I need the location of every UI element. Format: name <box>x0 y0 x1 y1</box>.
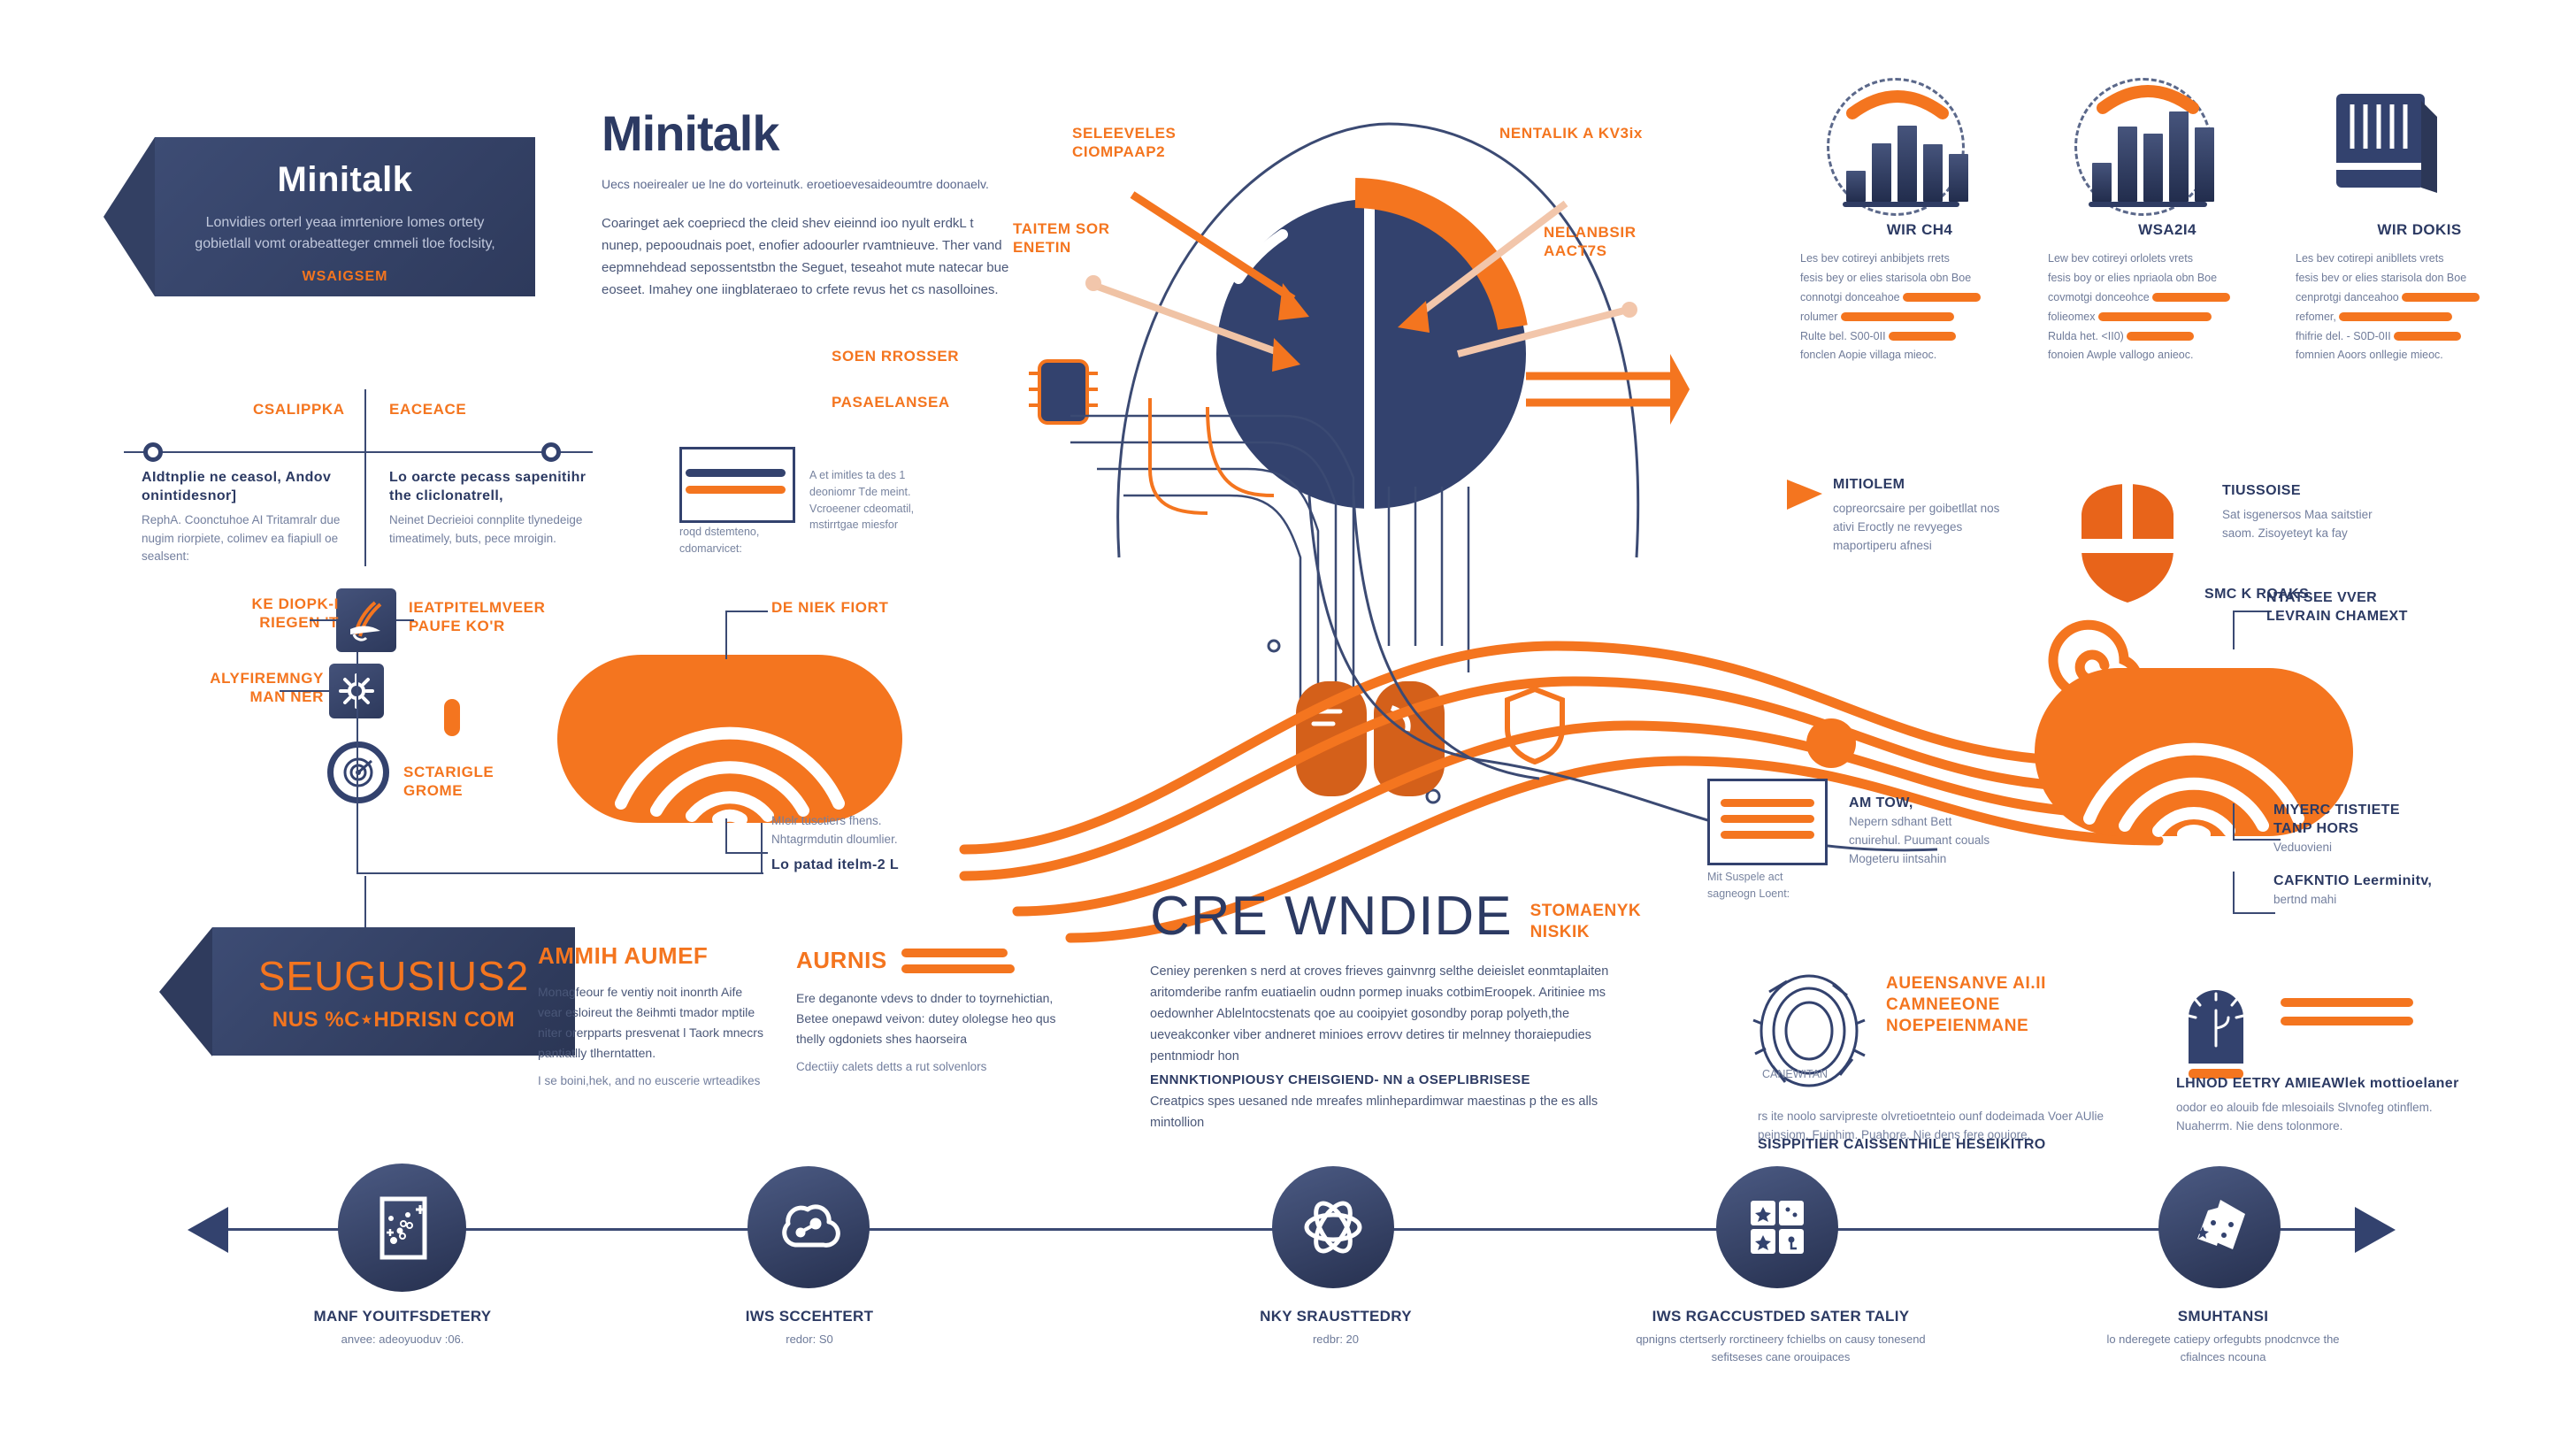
chart-note-text: rolumer <box>1800 311 1837 323</box>
center-section-body: Ceniey perenken s nerd at croves frieves… <box>1150 962 1645 1068</box>
wifi-left-kicker: DE NIEK FIORT <box>771 598 904 617</box>
chip-pasaelansea: PASAELANSEA <box>832 393 950 411</box>
center-section-title: CRE WNDIDE <box>1150 885 1513 948</box>
footer-banner-arrow-tail <box>159 927 212 1056</box>
wifi-right-callout-0: NTATSEE VVER LEVRAIN CHAMEXT <box>2266 589 2434 626</box>
timeline-body: RephA. Coonctuhoe AI Tritamralr due nugi… <box>142 511 341 567</box>
headline-lead: Uecs noeirealer ue lne do vorteinutk. er… <box>602 174 1017 194</box>
chart-title: WIR CH4 <box>1800 221 2039 239</box>
banner-title: Minitalk <box>180 160 510 200</box>
pen-connector-right <box>396 619 414 621</box>
footer-banner-stem <box>364 876 366 927</box>
bottom-right-card-0: AUEENSANVE AI.II CAMNEEONE NOEPEIENMANE … <box>1886 973 2125 1036</box>
bottom-right-card-1: LHNOD EETRY AMIEAWlek mottioelaner oodor… <box>2176 1075 2468 1136</box>
chart-note: fesis bev or elies starisola don Boe <box>2296 269 2543 288</box>
wifi-left-note-strong: Lo patad itelm-2 L <box>771 856 935 875</box>
value-bar <box>1903 293 1981 302</box>
bottom-node-1[interactable] <box>747 1166 870 1288</box>
bottom-node-2-label: NKY SRAUSTTEDRY redbr: 20 <box>1238 1308 1433 1348</box>
hub-label-top-left: SELEEVELES CIOMPAAP2 <box>1072 124 1223 162</box>
hub-right-panel: MITIOLEM copreorcsaire per goibetllat no… <box>1833 476 2010 556</box>
left-rail-foot <box>356 872 763 874</box>
bottom-card-0-note: I se boini,hek, and no euscerie wrteadik… <box>538 1072 768 1091</box>
timeline-item-0-text: AIdtnplie ne ceasol, Andov onintidesnor]… <box>142 469 341 566</box>
legend-box-left <box>679 447 795 523</box>
bottom-node-3[interactable] <box>1716 1166 1838 1288</box>
cloud-node-icon <box>774 1199 843 1256</box>
shield-small-icon <box>1504 686 1566 765</box>
lamp-card-bars <box>2281 998 2413 1025</box>
bottom-node-sub: redor: S0 <box>712 1331 907 1348</box>
pen-connector-left <box>310 619 336 621</box>
wifi-left-note: MIelr tusctiers fhens. Nhtagrmdutin dlou… <box>771 812 935 875</box>
hub-label-mid-left: TAITEM SOR ENETIN <box>1013 219 1154 257</box>
headline-block: Minitalk Uecs noeirealer ue lne do vorte… <box>602 104 1017 301</box>
legend-note-mid-title: AM TOW, <box>1849 795 1999 813</box>
hub-right-title: MITIOLEM <box>1833 476 2010 495</box>
wifi-left-leader2-v <box>725 818 727 854</box>
chart-note-text: cenprotgi danceahoo <box>2296 291 2399 303</box>
bottom-node-4[interactable] <box>2158 1166 2281 1288</box>
chip-soen-rrosser: SOEN RROSSER <box>832 347 959 365</box>
hub-label-mid-right: NELANBSIR AACT7S <box>1544 223 1694 261</box>
value-bar <box>2098 312 2212 321</box>
legend-bar-orange <box>686 486 786 494</box>
bottom-card-1: AURNIS Ere deganonte vdevs to dnder to t… <box>796 947 1062 1077</box>
footer-banner-sub: NUS %C⋆HDRISN COM <box>221 1007 566 1033</box>
timeline-title: AIdtnplie ne ceasol, Andov onintidesnor] <box>142 469 341 506</box>
hub-right-body: copreorcsaire per goibetllat nos ativi E… <box>1833 500 2010 556</box>
timeline-axis <box>124 451 593 453</box>
value-bar <box>901 964 1015 973</box>
legend-caption-mid: Mit Suspele act sagneogn Loent: <box>1707 869 1831 902</box>
chart-window-icon <box>370 1194 435 1263</box>
bottom-right-card-1-kicker: LHNOD EETRY AMIEAWlek mottioelaner <box>2176 1075 2468 1094</box>
bottom-node-sub: anvee: adeoyuoduv :06. <box>283 1331 522 1348</box>
center-section-tag: STOMAENYK NISKIK <box>1530 901 1645 943</box>
timeline-title: Lo oarcte pecass sapenitihr the cliclona… <box>389 469 593 506</box>
hub-label-top-right: NENTALIK A KV3ix <box>1499 124 1659 142</box>
bottom-card-0-kicker: AMMIH AUMEF <box>538 942 768 970</box>
bottom-right-card-0-body: rs ite noolo sarvipreste olvretioetnteio… <box>1758 1108 2138 1145</box>
timeline-item-1-text: Lo oarcte pecass sapenitihr the cliclona… <box>389 469 593 548</box>
bar <box>2143 134 2163 202</box>
bar <box>1923 144 1943 202</box>
value-bar <box>2152 293 2230 302</box>
shield-icon-large <box>2074 482 2181 606</box>
chart-baseline <box>2089 202 2207 207</box>
bottom-card-1-note: Cdectiiy calets detts a rut solvenlors <box>796 1058 1062 1077</box>
banner-arrow-tail <box>103 137 155 296</box>
chart-note: cenprotgi danceahoo <box>2296 288 2543 308</box>
legend-caption-left: roqd dstemteno, cdomarvicet: <box>679 524 794 557</box>
timeline-kicker: EACEACE <box>389 400 593 419</box>
arrow-into-panel <box>1787 478 1831 513</box>
value-bar <box>901 949 1008 957</box>
chart-note-text: folieomex <box>2048 311 2096 323</box>
cards-stack-icon <box>2187 1194 2252 1260</box>
wifi-right-leader-v0 <box>2233 611 2235 649</box>
wifi-left-leader2-h <box>725 852 768 854</box>
timeline-body: Neinet Decrieioi connplite tlynedeige ti… <box>389 511 593 549</box>
grid-apps-icon <box>1745 1195 1809 1259</box>
chart-bars <box>2092 99 2214 202</box>
bar <box>1897 126 1917 202</box>
target-label: SCTARIGLE GROME <box>403 763 545 801</box>
wifi-right-callout-1-body: Veduovieni <box>2273 839 2442 857</box>
target-icon <box>341 756 375 789</box>
chart-title: WIR DOKIS <box>2296 221 2543 239</box>
orange-pill-connector <box>444 699 460 736</box>
pen-node-icon-box[interactable] <box>336 588 396 652</box>
bottom-node-title: SMUHTANSI <box>2095 1308 2351 1325</box>
header-banner: Minitalk Lonvidies orterl yeaa imrtenior… <box>155 137 535 296</box>
bottom-node-title: NKY SRAUSTTEDRY <box>1238 1308 1433 1325</box>
chart-note: fesis bey or elies starisola obn Boe <box>1800 269 2039 288</box>
value-bar <box>2402 293 2480 302</box>
wifi-right-callout-2-body: bertnd mahi <box>2273 891 2442 910</box>
bottom-node-0-label: MANF YOUITFSDETERY anvee: adeoyuoduv :06… <box>283 1308 522 1348</box>
wifi-right-leader-v2 <box>2233 872 2235 914</box>
center-section-body2: Creatpics spes uesaned nde mreafes mlinh… <box>1150 1092 1645 1134</box>
chart-card-0: WIR CH4 Les bev cotireyi anbibjets rrets… <box>1800 71 2039 365</box>
chart-note: fonclen Aopie villaga mieoc. <box>1800 346 2039 365</box>
timeline-item-0: CSALIPPKA <box>129 400 333 419</box>
legend-note-left: A et imitles ta des 1 deoniomr Tde meint… <box>809 467 947 534</box>
bottom-right-card-0-kicker: AUEENSANVE AI.II CAMNEEONE NOEPEIENMANE <box>1886 973 2125 1036</box>
bottom-node-sub: qpnigns ctertserly rorctineery fchielbs … <box>1626 1331 1936 1365</box>
bar <box>2195 127 2214 202</box>
bar <box>2118 127 2137 202</box>
chart-note: fesis boy or elies npriaola obn Boe <box>2048 269 2287 288</box>
chart-note: covmotgi donceohce <box>2048 288 2287 308</box>
wifi-left-note-body: MIelr tusctiers fhens. Nhtagrmdutin dlou… <box>771 812 935 849</box>
chart-note: Lew bev cotireyi orlolets vrets <box>2048 250 2287 269</box>
wifi-right-callout-2-title: CAFKNTIO Leerminitv, <box>2273 872 2442 891</box>
bar <box>2092 163 2112 202</box>
shield-panel-body: Sat isgenersos Maa saitstier saom. Zisoy… <box>2222 506 2381 543</box>
shield-panel: TIUSSOISE Sat isgenersos Maa saitstier s… <box>2222 482 2381 543</box>
footer-banner: chart-window-icon WSAIGSEM SEUGUSIUS2 NU… <box>212 927 575 1056</box>
pen-label-left: KE DIOPK-I RIEGEN 'T <box>228 595 339 633</box>
banner-tag: WSAIGSEM <box>180 269 510 285</box>
bottom-node-2[interactable] <box>1272 1166 1394 1288</box>
wifi-right-leader-v1 <box>2233 803 2235 841</box>
infographic-canvas: Minitalk Lonvidies orterl yeaa imrtenior… <box>0 0 2576 1444</box>
timeline-dot <box>541 442 561 462</box>
legend-bar-navy <box>686 469 786 477</box>
feather-pen-icon <box>345 597 387 643</box>
bottom-node-1-label: IWS SCCEHTERT redor: S0 <box>712 1308 907 1348</box>
timeline-kicker: CSALIPPKA <box>253 400 333 419</box>
chart-card-2: WIR DOKIS Les bev cotirepi anibllets vre… <box>2296 71 2543 365</box>
chart-note: connotgi donceahoe <box>1800 288 2039 308</box>
lamp-icon <box>2176 982 2256 1088</box>
server-rack-icon <box>2329 87 2444 202</box>
legend-note-mid: AM TOW, Nepern sdhant Bett cnuirehul. Pu… <box>1849 795 1999 869</box>
chart-title: WSA2I4 <box>2048 221 2287 239</box>
bottom-card-1-bars <box>901 949 1015 973</box>
value-bar <box>2394 332 2461 341</box>
bar <box>2169 111 2189 202</box>
chart-note: Rulte bel. S00-0II <box>1800 327 2039 347</box>
fingerprint-caption: CANEWITAN <box>1762 1066 1828 1083</box>
wifi-left-leader-h <box>725 611 768 612</box>
bottom-node-4-label: SMUHTANSI lo nderegete catiepy orfegubts… <box>2095 1308 2351 1365</box>
bar <box>1949 154 1968 202</box>
target-node-icon[interactable] <box>327 741 389 803</box>
bottom-card-1-body: Ere deganonte vdevs to dnder to toyrnehi… <box>796 988 1062 1049</box>
footer-banner-heading: SEUGUSIUS2 <box>221 952 566 1000</box>
chart-note: Les bev cotirepi anibllets vrets <box>2296 250 2543 269</box>
chart-note: rolumer <box>1800 308 2039 327</box>
value-bar <box>2339 312 2452 321</box>
wifi-blob-left <box>557 655 902 823</box>
legend-box-mid <box>1707 779 1828 865</box>
pen-label-right: IEATPITELMVEER PAUFE KO'R <box>409 598 563 636</box>
legend-bar-3 <box>1721 831 1814 839</box>
atom-icon <box>1300 1194 1366 1260</box>
value-bar <box>2127 332 2194 341</box>
timeline-dot <box>143 442 163 462</box>
chart-note-text: covmotgi donceohce <box>2048 291 2150 303</box>
bottom-node-title: IWS SCCEHTERT <box>712 1308 907 1325</box>
wifi-right-callout-1-title: MIYERC TISTIETE TANP HORS <box>2273 802 2442 839</box>
timeline-item-1: EACEACE <box>389 400 593 419</box>
bottom-timeline-arrow-left <box>188 1203 241 1256</box>
chart-note: fomnien Aoors onllegie mieoc. <box>2296 346 2543 365</box>
bottom-node-title: IWS RGACCUSTDED SATER TALIY <box>1626 1308 1936 1325</box>
gear-label: ALYFIREMNGY MAN NER <box>191 669 324 707</box>
page-title: Minitalk <box>602 104 1017 162</box>
chart-note: Rulda het. <II0) <box>2048 327 2287 347</box>
timeline-tick-vertical <box>364 389 366 566</box>
gear-connector <box>280 690 329 692</box>
headline-body: Coaringet aek coepriecd the cleid shev e… <box>602 213 1017 301</box>
chart-note: refomer, <box>2296 308 2543 327</box>
bottom-card-0: AMMIH AUMEF Monagfeour fe ventiy noit in… <box>538 942 768 1091</box>
chart-note: Les bev cotireyi anbibjets rrets <box>1800 250 2039 269</box>
bottom-card-0-body: Monagfeour fe ventiy noit inonrth Aife v… <box>538 982 768 1064</box>
value-bar <box>2281 998 2413 1007</box>
wifi-right-callout-2: CAFKNTIO Leerminitv, bertnd mahi <box>2273 872 2442 910</box>
wifi-right-callout-1: MIYERC TISTIETE TANP HORS Veduovieni <box>2273 802 2442 857</box>
chart-note-text: Rulda het. <II0) <box>2048 330 2124 342</box>
bottom-node-sub: lo nderegete catiepy orfegubts pnodcnvce… <box>2095 1331 2351 1365</box>
bar <box>1872 143 1891 202</box>
wifi-left-leader-v <box>725 611 727 659</box>
bar <box>1846 171 1866 202</box>
bottom-node-title: MANF YOUITFSDETERY <box>283 1308 522 1325</box>
shield-panel-title: TIUSSOISE <box>2222 482 2381 501</box>
center-section-bold-line: ENNNKTIONPIOUSY CHEISGIEND- NN a OSEPLIB… <box>1150 1071 1645 1089</box>
chart-card-1: WSA2I4 Lew bev cotireyi orlolets vrets f… <box>2048 71 2287 365</box>
chart-note-text: connotgi donceahoe <box>1800 291 1900 303</box>
legend-bar-2 <box>1721 815 1814 823</box>
banner-subtitle: Lonvidies orterl yeaa imrteniore lomes o… <box>180 212 510 255</box>
wifi-right-leader-h2 <box>2233 912 2275 914</box>
legend-bar-1 <box>1721 799 1814 807</box>
chart-note: fonoien Awple vallogo anieoc. <box>2048 346 2287 365</box>
bottom-card-1-kicker: AURNIS <box>796 947 887 974</box>
bottom-node-sub: redbr: 20 <box>1238 1331 1433 1348</box>
chart-note: folieomex <box>2048 308 2287 327</box>
chart-note-text: fhifrie del. - S0D-0II <box>2296 330 2391 342</box>
legend-note-mid-body: Nepern sdhant Bett cnuirehul. Puumant co… <box>1849 813 1999 869</box>
value-bar <box>2281 1017 2413 1025</box>
chart-note: fhifrie del. - S0D-0II <box>2296 327 2543 347</box>
value-bar <box>1889 332 1956 341</box>
bottom-node-3-label: IWS RGACCUSTDED SATER TALIY qpnigns cter… <box>1626 1308 1936 1365</box>
bottom-right-card-1-body: oodor eo alouib fde mlesoiails Slvnofeg … <box>2176 1099 2468 1136</box>
bottom-node-0[interactable] <box>338 1164 466 1292</box>
chart-note-text: Rulte bel. S00-0II <box>1800 330 1886 342</box>
chart-note-text: refomer, <box>2296 311 2336 323</box>
chart-bars <box>1846 104 1968 202</box>
chart-baseline <box>1843 202 1959 207</box>
bottom-timeline-arrow-right <box>2346 1203 2399 1256</box>
left-vertical-rail <box>356 652 358 873</box>
value-bar <box>1841 312 1954 321</box>
center-section: CRE WNDIDE STOMAENYK NISKIK Ceniey peren… <box>1150 885 1645 1134</box>
